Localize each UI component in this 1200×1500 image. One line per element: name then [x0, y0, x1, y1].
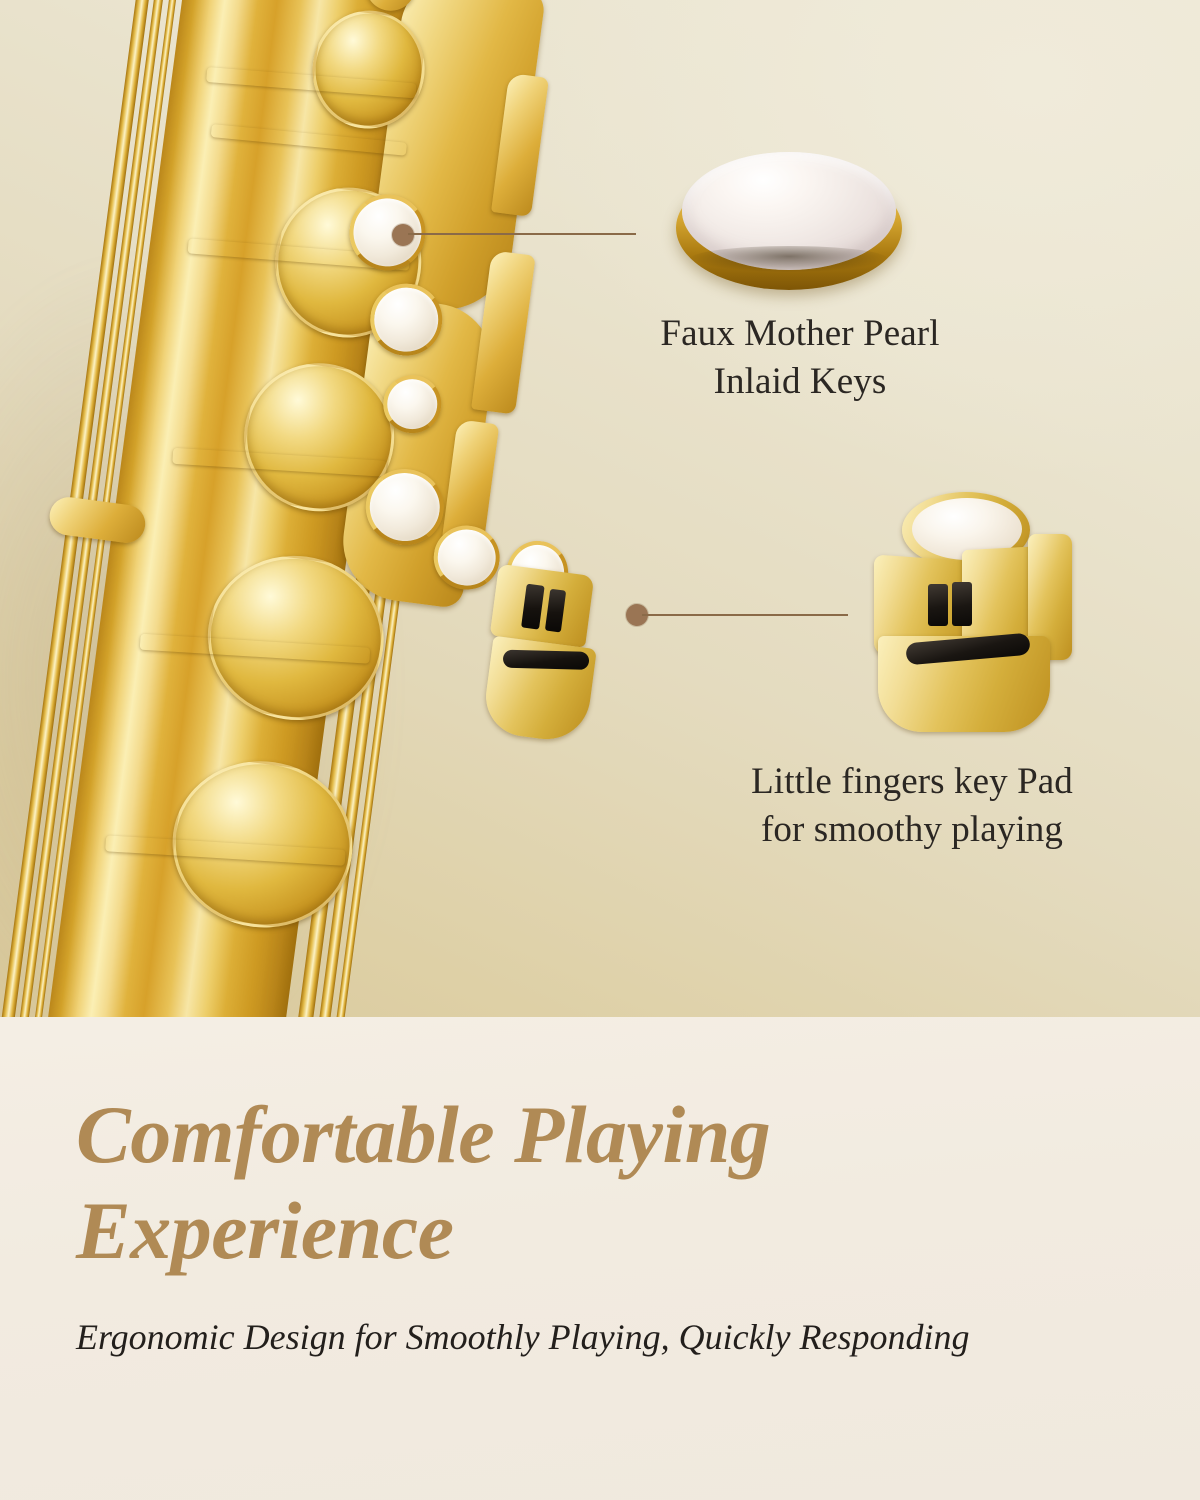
leader-line-pearl — [408, 233, 636, 235]
callout-pearl-line2: Inlaid Keys — [560, 358, 1040, 406]
pearl-dome-shadow — [690, 246, 888, 272]
page-title: Comfortable Playing Experience — [76, 1087, 1076, 1279]
feature-banner-page: Faux Mother Pearl Inlaid Keys — [0, 0, 1200, 1500]
leader-dot-pearl — [392, 224, 414, 246]
cluster-pad-black-right — [952, 582, 972, 626]
headline-line-1: Comfortable Playing — [76, 1087, 1076, 1183]
cluster-pad-black-left — [928, 584, 948, 626]
page-subtitle: Ergonomic Design for Smoothly Playing, Q… — [76, 1312, 1066, 1362]
marketing-text-panel: Comfortable Playing Experience Ergonomic… — [0, 1017, 1200, 1500]
callout-pearl-line1: Faux Mother Pearl — [560, 310, 1040, 358]
callout-cluster-line1: Little fingers key Pad — [672, 758, 1152, 806]
pearl-inlay-closeup — [676, 150, 902, 290]
little-finger-key-closeup — [862, 486, 1086, 736]
callout-pearl-inlay: Faux Mother Pearl Inlaid Keys — [560, 310, 1040, 406]
leader-line-cluster — [642, 614, 848, 616]
key-pad-black — [503, 650, 589, 670]
headline-line-2: Experience — [76, 1183, 1076, 1279]
callout-little-finger-key: Little fingers key Pad for smoothy playi… — [672, 758, 1152, 854]
product-photo-panel: Faux Mother Pearl Inlaid Keys — [0, 0, 1200, 1017]
callout-cluster-line2: for smoothy playing — [672, 806, 1152, 854]
